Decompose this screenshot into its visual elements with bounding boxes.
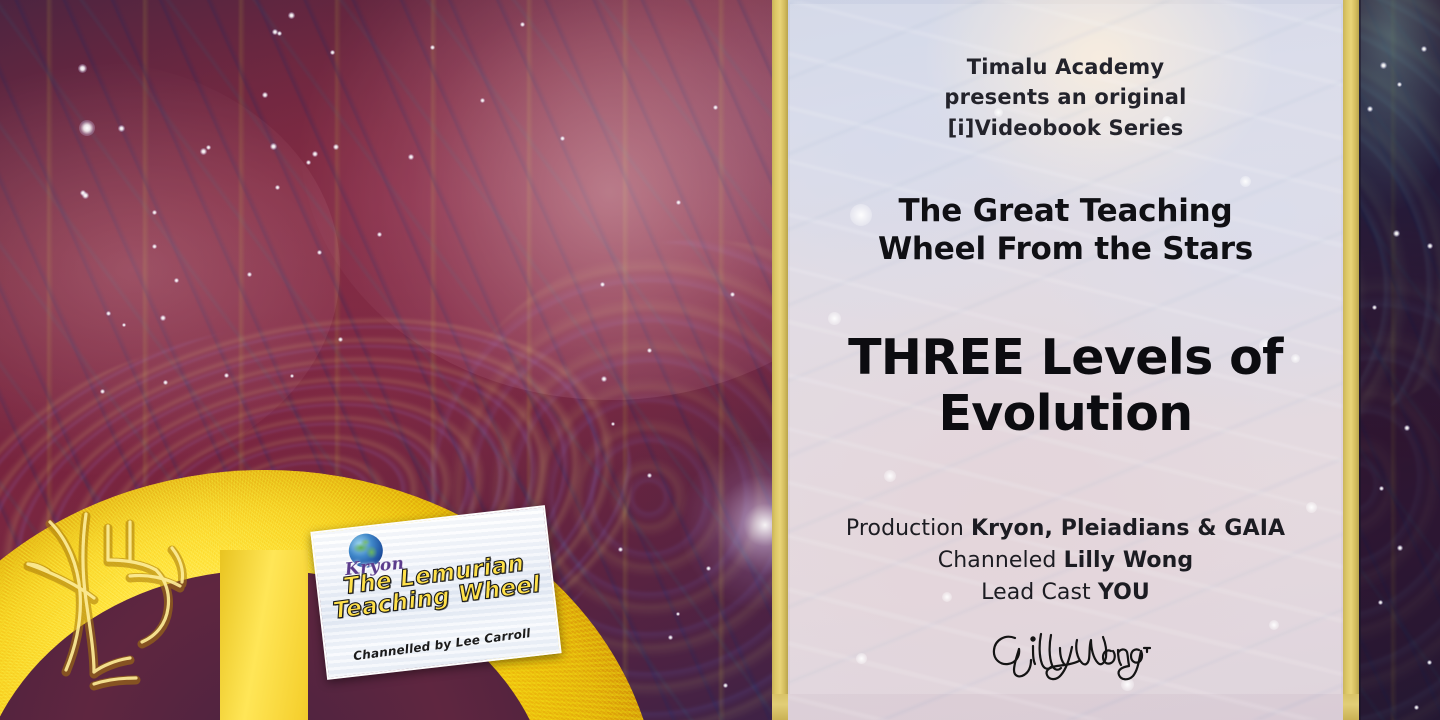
right-edge-teal-glow (1356, 0, 1440, 340)
series-title: The Great Teaching Wheel From the Stars (788, 193, 1343, 269)
credit-channeled-value: Lilly Wong (1064, 548, 1194, 573)
credit-channeled-label: Channeled (938, 548, 1064, 573)
kryon-book-cover-card[interactable]: Kryon The Lemurian Teaching Wheel Channe… (310, 505, 561, 680)
presents-block: Timalu Academy presents an original [i]V… (788, 52, 1343, 143)
panel-edge-line (1359, 0, 1361, 720)
main-title-line-1: THREE Levels of (788, 330, 1343, 386)
presents-line-3: [i]Videobook Series (788, 113, 1343, 143)
credit-production-label: Production (846, 516, 971, 541)
series-title-line-2: Wheel From the Stars (788, 231, 1343, 269)
poster-stage: Kryon The Lemurian Teaching Wheel Channe… (0, 0, 1440, 720)
credit-lead-cast-label: Lead Cast (981, 580, 1098, 605)
presents-line-2: presents an original (788, 82, 1343, 112)
series-title-line-1: The Great Teaching (788, 193, 1343, 231)
credit-production: Production Kryon, Pleiadians & GAIA (788, 513, 1343, 545)
credit-channeled: Channeled Lilly Wong (788, 545, 1343, 577)
center-text-panel: Timalu Academy presents an original [i]V… (788, 0, 1343, 720)
credit-lead-cast: Lead Cast YOU (788, 577, 1343, 609)
gold-divider-left (772, 0, 788, 720)
credits-block: Production Kryon, Pleiadians & GAIA Chan… (788, 513, 1343, 609)
panel-content: Timalu Academy presents an original [i]V… (788, 0, 1343, 720)
main-title: THREE Levels of Evolution (788, 330, 1343, 442)
main-title-line-2: Evolution (788, 386, 1343, 442)
credit-production-value: Kryon, Pleiadians & GAIA (971, 516, 1285, 541)
lilly-wong-signature-icon (788, 626, 1343, 686)
presents-line-1: Timalu Academy (788, 52, 1343, 82)
credit-lead-cast-value: YOU (1098, 580, 1150, 605)
gold-divider-right (1343, 0, 1359, 720)
